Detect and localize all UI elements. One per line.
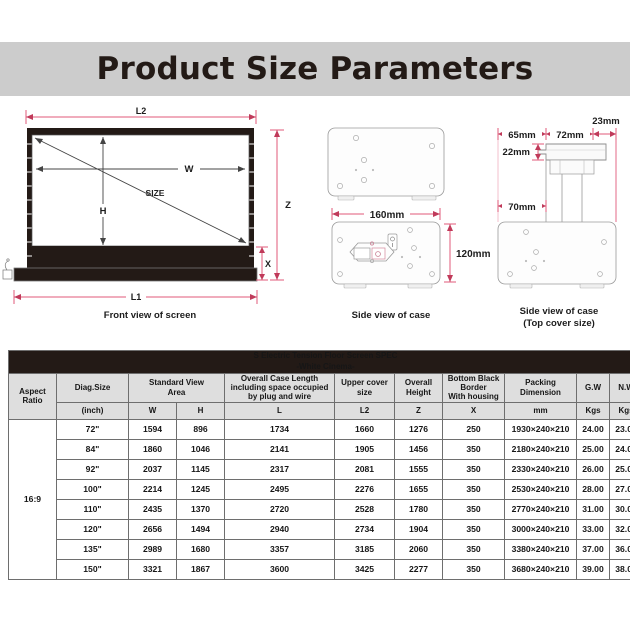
header-ocl-l1: Overall Case Length [225, 374, 334, 383]
cell-x: 350 [443, 539, 505, 559]
unit-z: Z [395, 402, 443, 419]
header-standard-view-area: Standard View Area [129, 373, 225, 402]
cell-l: 2940 [225, 519, 335, 539]
table-title-cell: S Electric Tension Floor Screen SPEC -Wh… [9, 351, 630, 374]
cell-x: 350 [443, 519, 505, 539]
cell-packing-dimension: 2530×240×210 [505, 479, 577, 499]
cell-x: 350 [443, 459, 505, 479]
cell-nw: 38.00 [610, 559, 630, 579]
header-oh-l1: Overall [395, 378, 442, 387]
label-65mm: 65mm [508, 130, 535, 141]
cell-h: 1867 [177, 559, 225, 579]
unit-l: L [225, 402, 335, 419]
header-sva-l1: Standard View [129, 378, 224, 387]
cell-z: 2277 [395, 559, 443, 579]
cell-diag-size: 72" [57, 419, 129, 439]
label-70mm: 70mm [508, 202, 535, 213]
cell-packing-dimension: 3000×240×210 [505, 519, 577, 539]
label-w: W [185, 164, 194, 175]
cell-gw: 31.00 [577, 499, 610, 519]
cell-l: 1734 [225, 419, 335, 439]
header-bbb-l2: Border [443, 383, 504, 392]
table-units-row: (inch) W H L L2 Z X mm Kgs Kgs [9, 402, 630, 419]
cell-packing-dimension: 1930×240×210 [505, 419, 577, 439]
unit-diag-size: (inch) [57, 402, 129, 419]
table-title-line1: S Electric Tension Floor Screen SPEC [9, 351, 630, 362]
label-h: H [100, 206, 107, 217]
cell-x: 350 [443, 499, 505, 519]
cell-l2: 1660 [335, 419, 395, 439]
cell-diag-size: 120" [57, 519, 129, 539]
screen-left-rail [27, 128, 32, 268]
cell-packing-dimension: 3680×240×210 [505, 559, 577, 579]
header-bbb-l3: With housing [443, 392, 504, 401]
cell-h: 1370 [177, 499, 225, 519]
cell-diag-size: 84" [57, 439, 129, 459]
header-sva-l2: Area [129, 388, 224, 397]
table-title-row: S Electric Tension Floor Screen SPEC -Wh… [9, 351, 630, 374]
cell-z: 1904 [395, 519, 443, 539]
header-packing-dimension: Packing Dimension [505, 373, 577, 402]
cell-gw: 26.00 [577, 459, 610, 479]
page-title-band: Product Size Parameters [0, 42, 630, 96]
cell-h: 1245 [177, 479, 225, 499]
unit-nw: Kgs [610, 402, 630, 419]
cell-x: 250 [443, 419, 505, 439]
case-upper-view [328, 128, 444, 200]
cell-gw: 28.00 [577, 479, 610, 499]
cell-aspect-ratio: 16:9 [9, 419, 57, 579]
cell-l2: 3185 [335, 539, 395, 559]
cell-packing-dimension: 3380×240×210 [505, 539, 577, 559]
label-22mm: 22mm [503, 147, 530, 158]
cell-x: 350 [443, 479, 505, 499]
cell-l: 2495 [225, 479, 335, 499]
top-cover-case-body [498, 222, 616, 288]
table-row: 150"332118673600342522773503680×240×2103… [9, 559, 630, 579]
cell-l: 3357 [225, 539, 335, 559]
dimension-line-23mm [593, 128, 616, 140]
header-aspect-ratio-l2: Ratio [9, 396, 56, 405]
cell-w: 2656 [129, 519, 177, 539]
cell-w: 2037 [129, 459, 177, 479]
table-row: 135"298916803357318520603503380×240×2103… [9, 539, 630, 559]
cell-l2: 3425 [335, 559, 395, 579]
cell-nw: 25.00 [610, 459, 630, 479]
cell-z: 1276 [395, 419, 443, 439]
table-row: 84"186010462141190514563502180×240×21025… [9, 439, 630, 459]
cell-packing-dimension: 2330×240×210 [505, 459, 577, 479]
cell-l2: 2528 [335, 499, 395, 519]
header-overall-height: Overall Height [395, 373, 443, 402]
spec-table: S Electric Tension Floor Screen SPEC -Wh… [8, 350, 630, 580]
cell-diag-size: 92" [57, 459, 129, 479]
top-cover-caption-line1: Side view of case [520, 306, 599, 317]
bottom-black-border [32, 246, 249, 268]
table-row: 100"221412452495227616553502530×240×2102… [9, 479, 630, 499]
header-ocl-l3: by plug and wire [225, 392, 334, 401]
header-ocl-l2: including space occupied [225, 383, 334, 392]
cell-l: 3600 [225, 559, 335, 579]
table-row: 16:972"15948961734166012762501930×240×21… [9, 419, 630, 439]
cell-w: 3321 [129, 559, 177, 579]
cell-w: 2435 [129, 499, 177, 519]
header-diag-size: Diag.Size [57, 373, 129, 402]
cell-nw: 24.00 [610, 439, 630, 459]
side-view-case-diagram: 160mm [310, 100, 480, 310]
header-ucs-l1: Upper cover [335, 378, 394, 387]
front-view-caption: Front view of screen [40, 310, 260, 322]
cell-w: 2989 [129, 539, 177, 559]
cell-z: 1780 [395, 499, 443, 519]
top-cover-caption-line2: (Top cover size) [523, 318, 595, 329]
cell-packing-dimension: 2180×240×210 [505, 439, 577, 459]
top-cover-diagram: 65mm 72mm 23mm [488, 100, 630, 310]
table-title-line2: -White Cinema- [9, 362, 630, 373]
label-size: SIZE [146, 188, 165, 198]
label-l2: L2 [136, 106, 147, 116]
cell-packing-dimension: 2770×240×210 [505, 499, 577, 519]
header-aspect-ratio: Aspect Ratio [9, 373, 57, 419]
cell-l: 2720 [225, 499, 335, 519]
diagram-area: L2 [0, 100, 630, 340]
cell-w: 1860 [129, 439, 177, 459]
cell-nw: 36.00 [610, 539, 630, 559]
label-72mm: 72mm [556, 130, 583, 141]
table-row: 92"203711452317208115553502330×240×21026… [9, 459, 630, 479]
cell-diag-size: 150" [57, 559, 129, 579]
label-l1: L1 [131, 292, 142, 302]
unit-l2: L2 [335, 402, 395, 419]
control-panel-plate [350, 242, 394, 263]
cell-x: 350 [443, 439, 505, 459]
label-120mm: 120mm [456, 249, 491, 260]
product-spec-page: Product Size Parameters L2 [0, 0, 630, 630]
cell-nw: 27.00 [610, 479, 630, 499]
header-bbb-l1: Bottom Black [443, 374, 504, 383]
header-upper-cover-size: Upper cover size [335, 373, 395, 402]
cell-h: 1680 [177, 539, 225, 559]
cell-h: 896 [177, 419, 225, 439]
screen-top-bar [30, 128, 252, 135]
header-oh-l2: Height [395, 388, 442, 397]
cell-nw: 23.00 [610, 419, 630, 439]
cell-gw: 37.00 [577, 539, 610, 559]
cell-diag-size: 135" [57, 539, 129, 559]
cell-gw: 39.00 [577, 559, 610, 579]
dimension-line-120mm [444, 224, 456, 282]
header-bottom-black-border: Bottom Black Border With housing [443, 373, 505, 402]
header-nw: N.W [610, 373, 630, 402]
cell-z: 1655 [395, 479, 443, 499]
cell-gw: 25.00 [577, 439, 610, 459]
cell-l2: 2081 [335, 459, 395, 479]
page-title: Product Size Parameters [97, 51, 534, 87]
side-view-case-caption: Side view of case [306, 310, 476, 322]
label-160mm: 160mm [370, 210, 405, 221]
label-x: X [265, 259, 271, 269]
cell-nw: 30.00 [610, 499, 630, 519]
header-gw: G.W [577, 373, 610, 402]
cell-l: 2317 [225, 459, 335, 479]
unit-x: X [443, 402, 505, 419]
cell-h: 1046 [177, 439, 225, 459]
top-cover-caption: Side view of case (Top cover size) [488, 306, 630, 330]
cell-l2: 2734 [335, 519, 395, 539]
cell-w: 1594 [129, 419, 177, 439]
label-z: Z [285, 200, 291, 211]
dimension-line-z [270, 130, 284, 280]
screen-right-rail [249, 128, 254, 268]
cell-diag-size: 100" [57, 479, 129, 499]
case-lower-view [332, 222, 440, 288]
cell-nw: 32.00 [610, 519, 630, 539]
cell-x: 350 [443, 559, 505, 579]
plug-and-wire-detail [3, 259, 12, 279]
unit-w: W [129, 402, 177, 419]
cell-z: 2060 [395, 539, 443, 559]
cell-z: 1555 [395, 459, 443, 479]
header-aspect-ratio-l1: Aspect [9, 387, 56, 396]
cell-h: 1145 [177, 459, 225, 479]
cell-gw: 24.00 [577, 419, 610, 439]
cell-z: 1456 [395, 439, 443, 459]
cell-l2: 2276 [335, 479, 395, 499]
header-ucs-l2: size [335, 388, 394, 397]
cell-w: 2214 [129, 479, 177, 499]
floor-case-bar [14, 268, 257, 281]
unit-gw: Kgs [577, 402, 610, 419]
table-row: 120"265614942940273419043503000×240×2103… [9, 519, 630, 539]
header-overall-case-length: Overall Case Length including space occu… [225, 373, 335, 402]
table-header-row: Aspect Ratio Diag.Size Standard View Are… [9, 373, 630, 402]
cell-l2: 1905 [335, 439, 395, 459]
cell-diag-size: 110" [57, 499, 129, 519]
table-row: 110"243513702720252817803502770×240×2103… [9, 499, 630, 519]
cell-l: 2141 [225, 439, 335, 459]
cell-gw: 33.00 [577, 519, 610, 539]
top-cover-body [538, 144, 606, 174]
unit-h: H [177, 402, 225, 419]
cell-h: 1494 [177, 519, 225, 539]
label-23mm: 23mm [592, 116, 619, 127]
unit-packing: mm [505, 402, 577, 419]
front-view-diagram: L2 [0, 100, 300, 315]
